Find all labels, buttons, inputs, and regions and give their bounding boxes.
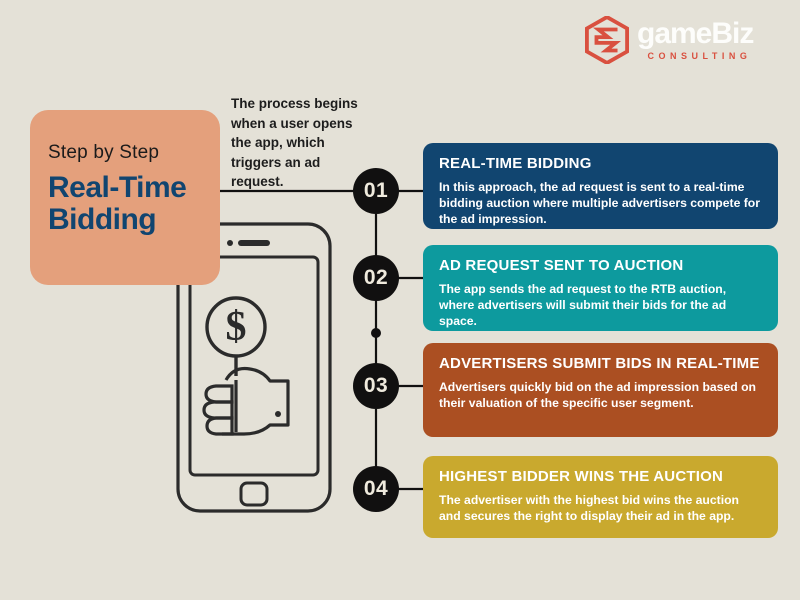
- step-card-title: HIGHEST BIDDER WINS THE AUCTION: [439, 468, 762, 485]
- page-title: Real-Time Bidding: [48, 172, 220, 237]
- step-card-title: ADVERTISERS SUBMIT BIDS IN REAL-TIME: [439, 355, 762, 372]
- page-title-line1: Real-Time: [48, 172, 220, 204]
- step-card-body: Advertisers quickly bid on the ad impres…: [439, 379, 762, 411]
- step-node-01: 01: [353, 168, 399, 214]
- brand-tagline: CONSULTING: [648, 52, 752, 61]
- page-title-line2: Bidding: [48, 204, 220, 236]
- intro-paragraph: The process begins when a user opens the…: [231, 94, 363, 192]
- title-kicker: Step by Step: [48, 142, 220, 164]
- step-card-01: REAL-TIME BIDDING In this approach, the …: [423, 143, 778, 229]
- timeline-dot-icon: [371, 328, 381, 338]
- brand-name: gameBiz: [637, 19, 753, 49]
- svg-text:$: $: [226, 304, 247, 350]
- step-card-04: HIGHEST BIDDER WINS THE AUCTION The adve…: [423, 456, 778, 538]
- step-card-body: The app sends the ad request to the RTB …: [439, 281, 762, 329]
- hexagon-logo-icon: [585, 16, 629, 64]
- step-card-title: REAL-TIME BIDDING: [439, 155, 762, 172]
- step-node-02: 02: [353, 255, 399, 301]
- step-card-03: ADVERTISERS SUBMIT BIDS IN REAL-TIME Adv…: [423, 343, 778, 437]
- brand-name-part2: Biz: [711, 17, 753, 50]
- title-card: Step by Step Real-Time Bidding: [30, 110, 220, 285]
- step-card-body: The advertiser with the highest bid wins…: [439, 492, 762, 524]
- step-card-02: AD REQUEST SENT TO AUCTION The app sends…: [423, 245, 778, 331]
- step-card-title: AD REQUEST SENT TO AUCTION: [439, 257, 762, 274]
- brand-name-part1: game: [637, 17, 711, 50]
- infographic-canvas: $ gameBiz CONSULTING Step by Step Real-T…: [0, 0, 800, 600]
- step-node-03: 03: [353, 363, 399, 409]
- step-node-04: 04: [353, 466, 399, 512]
- brand-logo: gameBiz CONSULTING: [585, 16, 753, 64]
- step-card-body: In this approach, the ad request is sent…: [439, 179, 762, 227]
